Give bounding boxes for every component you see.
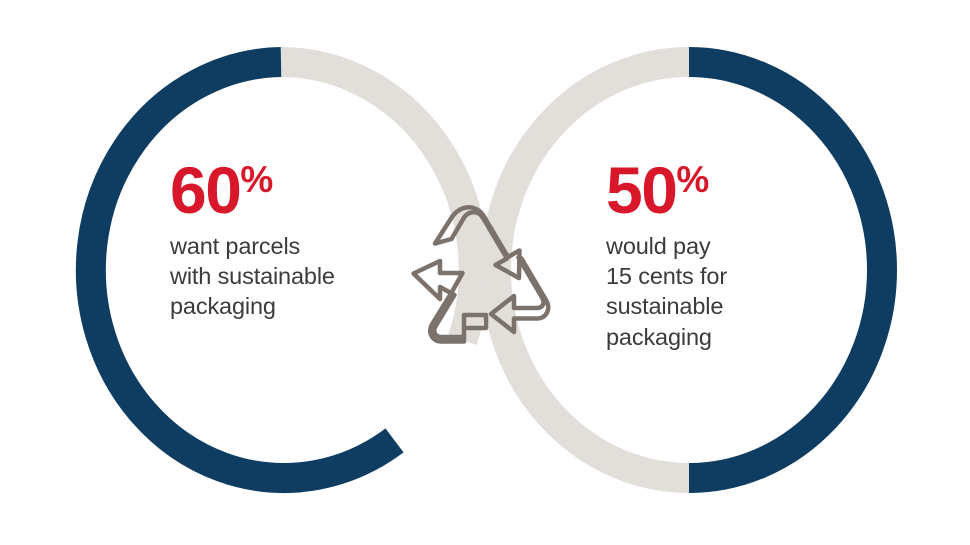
left-stat-description: want parcels with sustainable packaging bbox=[170, 231, 410, 322]
sustainable-packaging-infographic: 60% want parcels with sustainable packag… bbox=[0, 0, 970, 545]
right-stat-description: would pay 15 cents for sustainable packa… bbox=[606, 231, 826, 352]
left-stat-percent-sign: % bbox=[240, 159, 272, 200]
right-stat-value: 50% bbox=[606, 160, 826, 221]
right-stat-block: 50% would pay 15 cents for sustainable p… bbox=[606, 160, 826, 352]
right-stat-percent-sign: % bbox=[676, 159, 708, 200]
recycle-arrow-top bbox=[435, 207, 520, 278]
right-stat-number: 50 bbox=[606, 153, 676, 227]
recycling-icon-svg bbox=[403, 192, 568, 347]
recycle-arrow-left bbox=[414, 261, 487, 342]
left-stat-value: 60% bbox=[170, 160, 410, 221]
left-stat-block: 60% want parcels with sustainable packag… bbox=[170, 160, 410, 322]
recycling-icon bbox=[403, 192, 568, 347]
left-stat-number: 60 bbox=[170, 153, 240, 227]
